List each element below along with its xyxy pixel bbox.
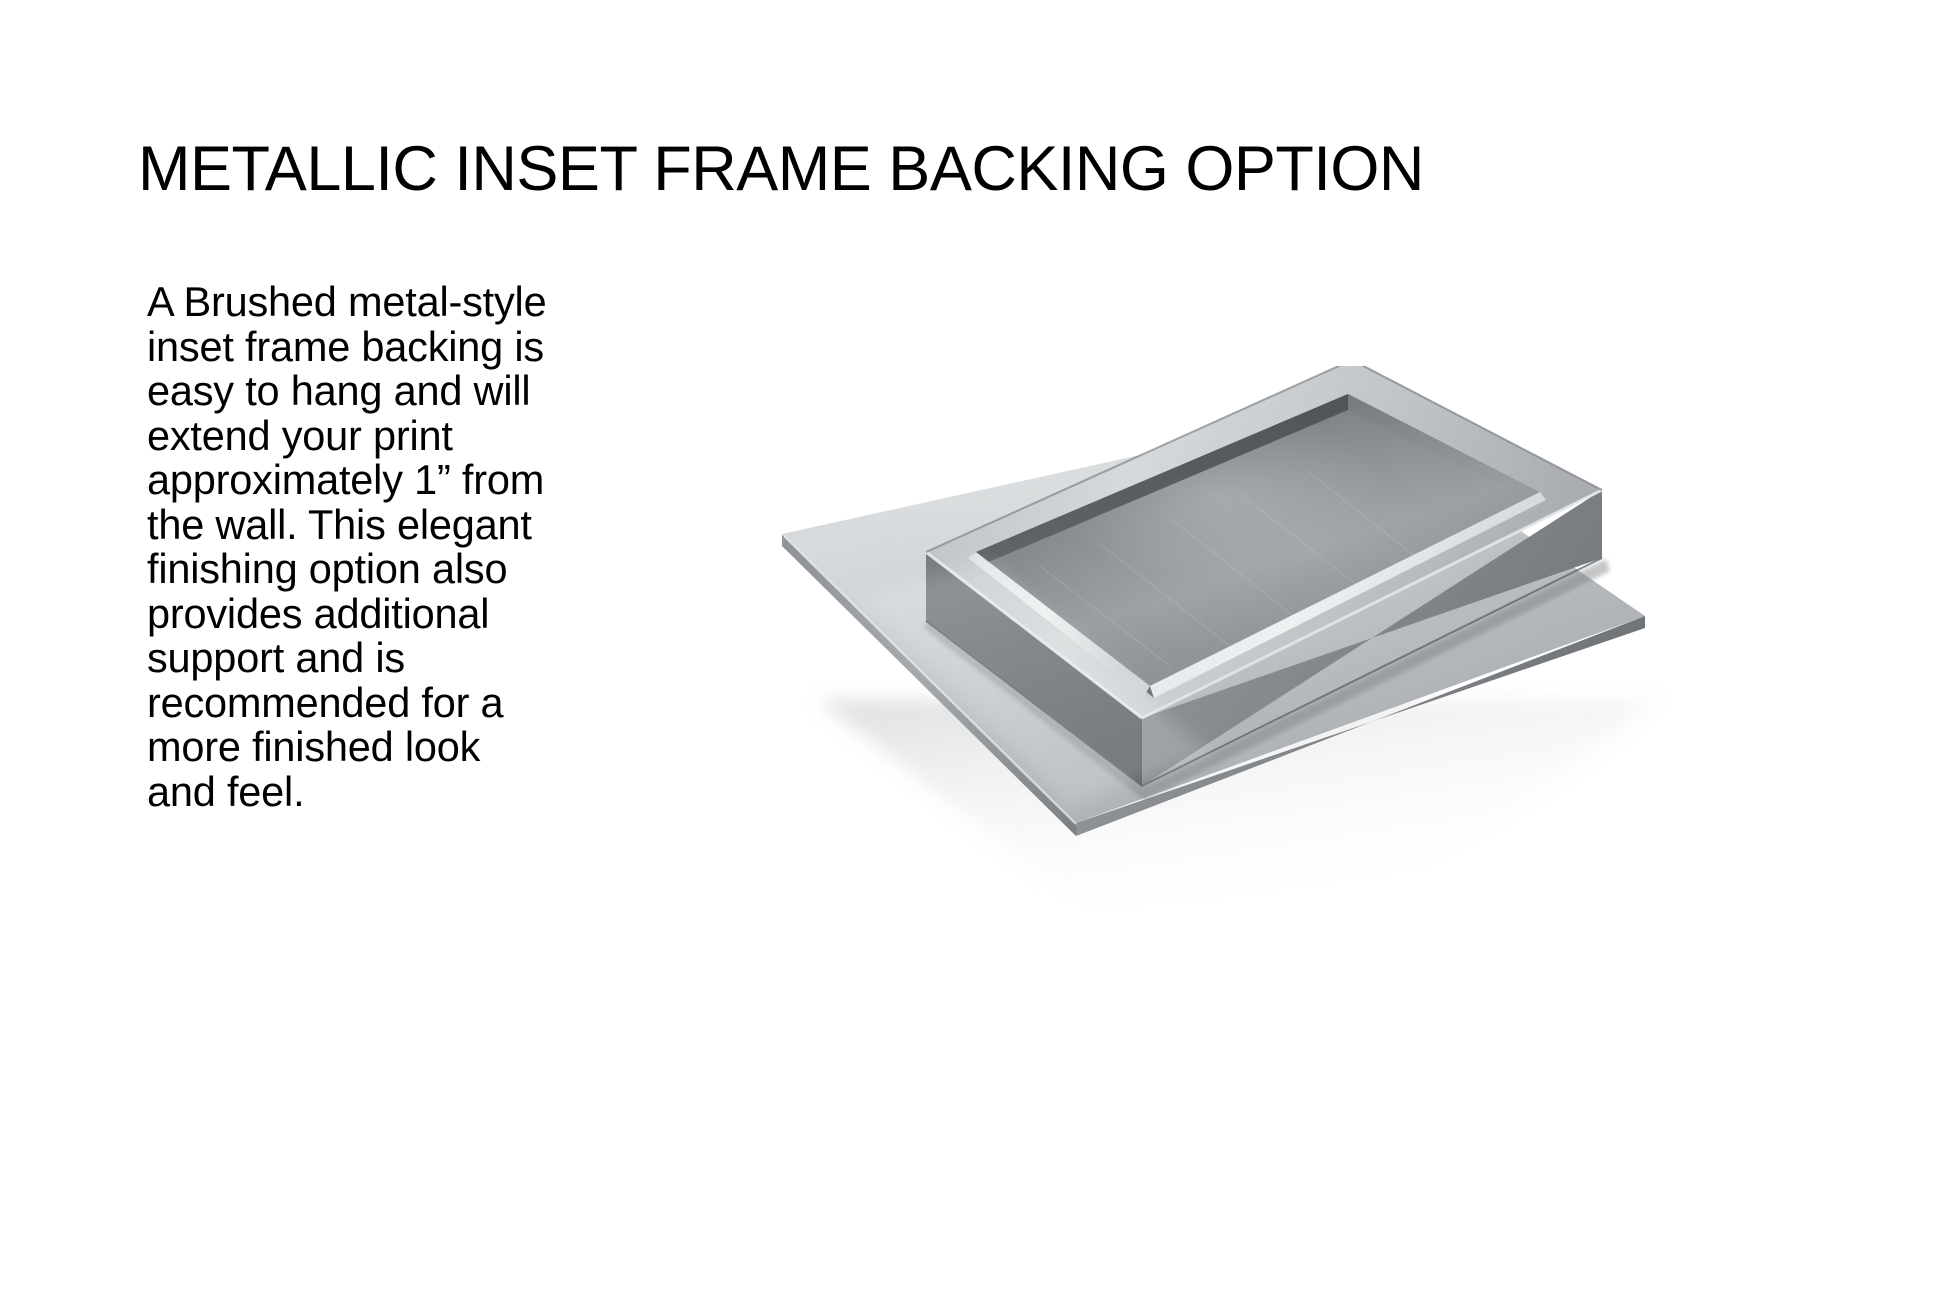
slide-canvas: METALLIC INSET FRAME BACKING OPTION A Br…	[0, 0, 1946, 1297]
description-paragraph: A Brushed metal-style inset frame backin…	[147, 280, 547, 814]
page-title: METALLIC INSET FRAME BACKING OPTION	[138, 138, 1838, 201]
inset-frame-illustration	[740, 366, 1700, 926]
product-image	[740, 366, 1700, 926]
